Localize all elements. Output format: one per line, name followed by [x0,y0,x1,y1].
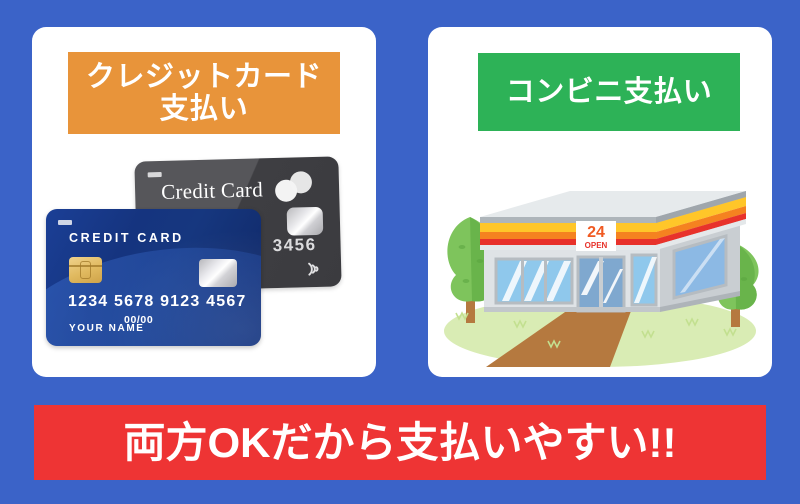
conveni-heading-text: コンビニ支払い [506,76,713,108]
dark-card-brand-text: Credit Card [161,177,263,205]
poster-canvas: クレジットカード 支払い Credit Card 3456 [0,0,800,504]
contactless-wave-icon [303,259,324,280]
credit-card-heading-line2: 支払い [160,93,249,125]
credit-card-heading-text: クレジットカード 支払い [86,61,322,126]
credit-card-heading-chip: クレジットカード 支払い [68,52,340,134]
store-sign-24-open: 24 OPEN [576,221,616,251]
credit-cards-illustration: Credit Card 3456 [32,137,376,372]
magnetic-tab-icon [58,220,72,225]
window-front-left [496,259,572,303]
conveni-heading-chip: コンビニ支払い [478,53,740,131]
panel-convenience-store: コンビニ支払い [428,27,772,377]
bottom-banner: 両方OKだから支払いやすい!! [34,405,766,480]
magnetic-tab-icon [148,172,162,177]
panel-credit-card: クレジットカード 支払い Credit Card 3456 [32,27,376,377]
bottom-banner-text: 両方OKだから支払いやすい!! [124,422,677,464]
dual-circle-logo-icon [275,171,324,202]
storefront-door [578,257,624,311]
emv-chip-icon [69,257,102,283]
window-front-right [632,255,657,305]
hologram-icon [287,207,324,236]
hologram-icon [199,259,237,287]
awning-front [480,223,656,250]
convenience-store-illustration: 24 OPEN [428,135,772,375]
blue-card-number: 1234 5678 9123 4567 [68,293,247,311]
sign-24-text: 24 [587,224,605,241]
sign-open-text: OPEN [585,241,608,250]
blue-card-label: CREDIT CARD [69,231,184,245]
blue-credit-card: CREDIT CARD 1234 5678 9123 4567 00/00 YO… [46,209,261,346]
building-base-front [484,307,660,312]
credit-card-heading-line1: クレジットカード [86,61,322,93]
dark-card-number-tail: 3456 [273,235,317,256]
blue-card-holder-name: YOUR NAME [69,323,145,334]
